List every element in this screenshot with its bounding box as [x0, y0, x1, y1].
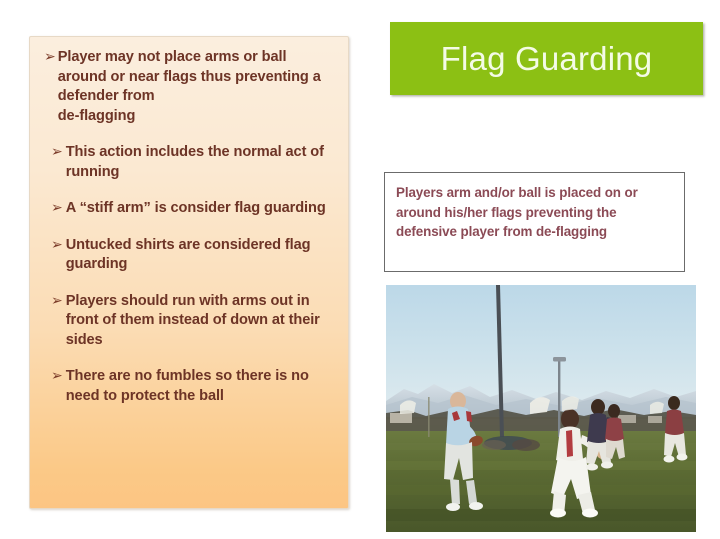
list-item-text: Untucked shirts are considered flag guar…	[66, 236, 334, 275]
photo-artwork	[386, 285, 696, 532]
callout-text: Players arm and/or ball is placed on or …	[396, 185, 638, 239]
page-title: Flag Guarding	[441, 41, 653, 77]
arrow-bullet-icon: ➢	[51, 236, 63, 256]
list-item-text: There are no fumbles so there is no need…	[66, 367, 334, 406]
list-item-text: This action includes the normal act of r…	[66, 143, 334, 182]
list-item-text: Players should run with arms out in fron…	[66, 292, 334, 351]
arrow-bullet-icon: ➢	[51, 367, 63, 387]
bullet-list-panel: ➢ Player may not place arms or ball arou…	[29, 36, 349, 509]
callout-box: Players arm and/or ball is placed on or …	[384, 172, 685, 272]
list-item-text: A “stiff arm” is consider flag guarding	[66, 199, 334, 219]
list-item: ➢ Players should run with arms out in fr…	[44, 292, 334, 351]
arrow-bullet-icon: ➢	[51, 143, 63, 163]
arrow-bullet-icon: ➢	[51, 292, 63, 312]
list-item: ➢ There are no fumbles so there is no ne…	[44, 367, 334, 406]
arrow-bullet-icon: ➢	[51, 199, 63, 219]
slide-title-banner: Flag Guarding	[390, 22, 703, 95]
list-item: ➢ A “stiff arm” is consider flag guardin…	[44, 199, 334, 219]
list-item: ➢ Untucked shirts are considered flag gu…	[44, 236, 334, 275]
arrow-bullet-icon: ➢	[44, 48, 56, 68]
list-item: ➢ This action includes the normal act of…	[44, 143, 334, 182]
list-item-text: Player may not place arms or ball around…	[58, 48, 334, 126]
list-item: ➢ Player may not place arms or ball arou…	[44, 48, 334, 126]
flag-football-photo	[386, 285, 696, 532]
